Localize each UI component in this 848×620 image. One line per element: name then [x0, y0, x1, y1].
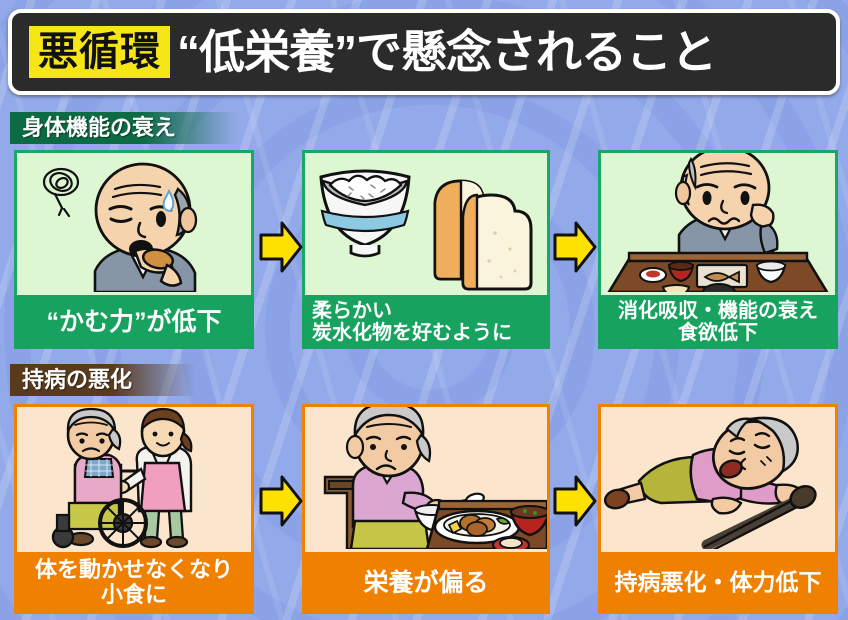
illustration-elderly-man-no-appetite-at-table	[598, 150, 838, 295]
caption-chewing-power: “かむ力”が低下	[14, 295, 254, 349]
svg-elderly-man-chewing	[17, 153, 251, 292]
panel-chewing-power: “かむ力”が低下	[14, 150, 254, 349]
svg-woman-eating-meal	[305, 407, 547, 549]
panel-unbalanced-nutrition: 栄養が偏る	[302, 404, 550, 614]
arrow-right-row1-2	[552, 218, 598, 276]
caption-text: 持病悪化・体力低下	[615, 570, 822, 596]
panel-illness-worsens: 持病悪化・体力低下	[598, 404, 838, 614]
illustration-rice-bowl-and-bread-slices	[302, 150, 550, 295]
arrow-right-row2-2	[552, 472, 598, 530]
caption-text: 体を動かせなくなり 小食に	[35, 558, 233, 607]
caption-text: “かむ力”が低下	[46, 308, 221, 336]
header-bar: 悪循環 “低栄養”で懸念されること	[8, 9, 840, 95]
illustration-elderly-woman-in-wheelchair-with-caregiver	[14, 404, 254, 552]
svg-woman-collapsed	[601, 407, 835, 549]
panel-prefers-soft-carbs: 柔らかい 炭水化物を好むように	[302, 150, 550, 349]
caption-digestion-decline: 消化吸収・機能の衰え 食欲低下	[598, 295, 838, 349]
caption-text: 柔らかい 炭水化物を好むように	[312, 300, 512, 345]
section-label: 身体機能の衰え	[22, 117, 176, 139]
panel-digestion-decline: 消化吸収・機能の衰え 食欲低下	[598, 150, 838, 349]
section-header-physical-decline: 身体機能の衰え	[10, 112, 238, 144]
header-badge: 悪循環	[26, 23, 173, 81]
section-label: 持病の悪化	[22, 369, 132, 391]
illustration-elderly-woman-eating-unbalanced-meal	[302, 404, 550, 552]
illustration-elderly-woman-collapsed-with-cane	[598, 404, 838, 552]
section-header-chronic-illness: 持病の悪化	[10, 364, 196, 396]
caption-text: 栄養が偏る	[363, 569, 488, 597]
caption-illness-worsens: 持病悪化・体力低下	[598, 552, 838, 614]
svg-rice-and-bread	[305, 153, 547, 292]
caption-unbalanced-nutrition: 栄養が偏る	[302, 552, 550, 614]
arrow-right-row2-1	[258, 472, 304, 530]
panel-cannot-move-body: 体を動かせなくなり 小食に	[14, 404, 254, 614]
page-title: “低栄養”で懸念されること	[177, 29, 716, 75]
svg-elderly-man-no-appetite	[601, 153, 835, 292]
illustration-elderly-man-struggling-to-chew	[14, 150, 254, 295]
header-badge-label: 悪循環	[38, 32, 161, 72]
arrow-right-row1-1	[258, 218, 304, 276]
caption-prefers-soft-carbs: 柔らかい 炭水化物を好むように	[302, 295, 550, 349]
caption-cannot-move-body: 体を動かせなくなり 小食に	[14, 552, 254, 614]
caption-text: 消化吸収・機能の衰え 食欲低下	[618, 300, 818, 345]
svg-wheelchair-caregiver	[17, 407, 251, 549]
